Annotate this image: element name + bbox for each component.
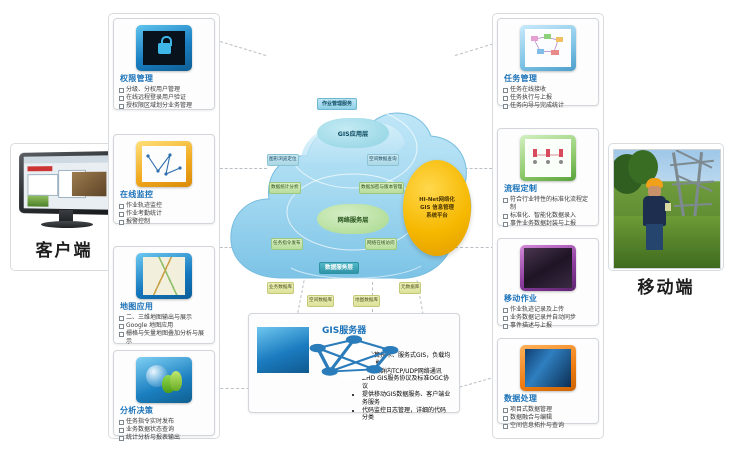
line-chart-icon bbox=[136, 141, 192, 187]
cloud-node-task-publish: 任务指令发布 bbox=[271, 238, 303, 250]
cloud-layer-core-network: 网络服务层 bbox=[317, 204, 389, 234]
feature-card-map-application[interactable]: 地图应用 二、三维地图输出与展示 Google 地图应用 栅格与矢量地图叠加分析… bbox=[113, 246, 215, 344]
list-item: 栅格与矢量地图叠加分析与展示 bbox=[119, 330, 209, 345]
workflow-icon bbox=[520, 135, 576, 181]
feature-item-list: 符合行业特性的标准化流程定制 标准化、智能化数据录入 事件业务数据封装与上报 bbox=[503, 196, 593, 227]
brand-ellipse: HI-Net网络化 GIS 信息管理 系统平台 bbox=[403, 160, 471, 256]
list-item: 业务数据状态查询 bbox=[119, 426, 209, 434]
list-item: 业务数据记录并自动同步 bbox=[503, 314, 593, 322]
cloud-layer-core-gis: GIS应用层 bbox=[317, 118, 389, 148]
list-item: 分级、分权用户管理 bbox=[119, 86, 209, 94]
brand-line-1: HI-Net网络化 bbox=[419, 196, 455, 204]
cloud-node-meta-db: 元数据库 bbox=[399, 282, 421, 294]
feature-item-list: 分级、分权用户管理 在线远程登录用户验证 授权限区域划分业务管理 bbox=[119, 86, 209, 110]
cloud-layer-name: GIS应用层 bbox=[338, 129, 368, 138]
list-item: 数据融合与编辑 bbox=[503, 414, 593, 422]
mobile-terminal-card: 移动端 bbox=[608, 143, 724, 271]
feature-title: 分析决策 bbox=[120, 406, 209, 416]
feature-item-list: 任务指令实时发布 业务数据状态查询 统计分析与报表输出 bbox=[119, 418, 209, 442]
map-icon bbox=[136, 253, 192, 299]
desktop-monitor-icon bbox=[17, 152, 117, 230]
feature-item-list: 项目式数据管理 数据融合与编辑 空间信息拓扑与查询 bbox=[503, 406, 593, 430]
list-item: 作业轨迹监控 bbox=[119, 202, 209, 210]
gis-server-card[interactable]: GIS服务器 云计算技术、服务式GIS，负载均衡技术 支持集群内TCP/UDP网… bbox=[248, 313, 460, 413]
analytics-globe-icon bbox=[136, 357, 192, 403]
list-item: 在线远程登录用户验证 bbox=[119, 94, 209, 102]
list-item: 事件描述与上报 bbox=[503, 322, 593, 330]
list-item: 空间信息拓扑与查询 bbox=[503, 422, 593, 430]
feature-card-online-monitoring[interactable]: 在线监控 作业轨迹监控 作业考勤统计 报警控制 bbox=[113, 134, 215, 224]
cloud-node-data-stat: 数据统计分析 bbox=[269, 182, 301, 194]
feature-item-list: 任务在线接收 任务执行与上报 任务向导与完成统计 bbox=[503, 86, 593, 110]
feature-title: 权限管理 bbox=[120, 74, 209, 84]
connector-line bbox=[220, 41, 266, 56]
feature-card-permission[interactable]: 权限管理 分级、分权用户管理 在线远程登录用户验证 授权限区域划分业务管理 bbox=[113, 18, 215, 110]
brand-line-2: GIS 信息管理 bbox=[419, 204, 455, 212]
list-item: Google 地图应用 bbox=[119, 322, 209, 330]
field-worker-photo bbox=[613, 149, 721, 269]
cloud-node-business-db: 业务数据库 bbox=[267, 282, 294, 294]
list-item: 统计分析与报表输出 bbox=[119, 434, 209, 442]
satellite-map-icon bbox=[520, 245, 576, 291]
feature-card-data-processing[interactable]: 数据处理 项目式数据管理 数据融合与编辑 空间信息拓扑与查询 bbox=[497, 338, 599, 424]
cloud-node-encryption: 数据加密与版本管理 bbox=[359, 182, 404, 194]
feature-title: 地图应用 bbox=[120, 302, 209, 312]
connector-line bbox=[455, 376, 496, 389]
cloud-layer-name: 网络服务层 bbox=[338, 215, 369, 224]
list-item: 授权限区域划分业务管理 bbox=[119, 102, 209, 110]
feature-title: 流程定制 bbox=[504, 184, 593, 194]
feature-title: 数据处理 bbox=[504, 394, 593, 404]
list-item: 任务在线接收 bbox=[503, 86, 593, 94]
list-item: 作业轨迹记录及上传 bbox=[503, 306, 593, 314]
brand-line-3: 系统平台 bbox=[419, 212, 455, 220]
list-item: 任务向导与完成统计 bbox=[503, 102, 593, 110]
list-item: 符合行业特性的标准化流程定制 bbox=[503, 196, 593, 211]
client-terminal: 客户端 bbox=[11, 144, 117, 269]
cloud-node-spatial-query: 空间数据查询 bbox=[367, 154, 399, 166]
cloud-node-online-access: 网络在线访问 bbox=[365, 238, 397, 250]
feature-card-process-customization[interactable]: 流程定制 符合行业特性的标准化流程定制 标准化、智能化数据录入 事件业务数据封装… bbox=[497, 128, 599, 226]
feature-item-list: 作业轨迹监控 作业考勤统计 报警控制 bbox=[119, 202, 209, 226]
padlock-icon bbox=[136, 25, 192, 71]
client-terminal-card: 客户端 bbox=[10, 143, 118, 271]
cloud-node-map-browse: 图形浏览定位 bbox=[267, 154, 299, 166]
server-cloud-icon bbox=[257, 327, 309, 373]
feature-card-mobile-operation[interactable]: 移动作业 作业轨迹记录及上传 业务数据记录并自动同步 事件描述与上报 bbox=[497, 238, 599, 326]
list-item: 作业考勤统计 bbox=[119, 210, 209, 218]
architecture-diagram: 客户端 权限管理 分级、分权用户管理 在线远程登录用户验证 授权限区域划分业务管… bbox=[0, 0, 733, 452]
feature-title: 移动作业 bbox=[504, 294, 593, 304]
list-item: 标准化、智能化数据录入 bbox=[503, 212, 593, 220]
feature-card-analysis-decision[interactable]: 分析决策 任务指令实时发布 业务数据状态查询 统计分析与报表输出 bbox=[113, 350, 215, 436]
feature-title: 任务管理 bbox=[504, 74, 593, 84]
feature-item-list: 二、三维地图输出与展示 Google 地图应用 栅格与矢量地图叠加分析与展示 bbox=[119, 314, 209, 345]
list-item: 二、三维地图输出与展示 bbox=[119, 314, 209, 322]
client-terminal-label: 客户端 bbox=[17, 236, 111, 261]
cloud-layer-header-application: 作业管理服务 bbox=[317, 98, 357, 110]
feature-item-list: 作业轨迹记录及上传 业务数据记录并自动同步 事件描述与上报 bbox=[503, 306, 593, 330]
list-item: 任务指令实时发布 bbox=[119, 418, 209, 426]
list-item: 事件业务数据封装与上报 bbox=[503, 220, 593, 228]
task-board-icon bbox=[520, 25, 576, 71]
cloud-node-map-db: 地图数据库 bbox=[353, 295, 380, 307]
mobile-terminal: 移动端 bbox=[609, 144, 723, 303]
feature-card-task-management[interactable]: 任务管理 任务在线接收 任务执行与上报 任务向导与完成统计 bbox=[497, 18, 599, 106]
cloud-node-spatial-db: 空间数据库 bbox=[307, 295, 334, 307]
feature-title: 在线监控 bbox=[120, 190, 209, 200]
list-item: 报警控制 bbox=[119, 218, 209, 226]
list-item: 任务执行与上报 bbox=[503, 94, 593, 102]
mobile-terminal-label: 移动端 bbox=[613, 273, 719, 298]
data-crystal-icon bbox=[520, 345, 576, 391]
cloud-layer-header-data: 数据服务层 bbox=[319, 262, 359, 274]
list-item: 项目式数据管理 bbox=[503, 406, 593, 414]
worker-figure bbox=[640, 178, 670, 250]
